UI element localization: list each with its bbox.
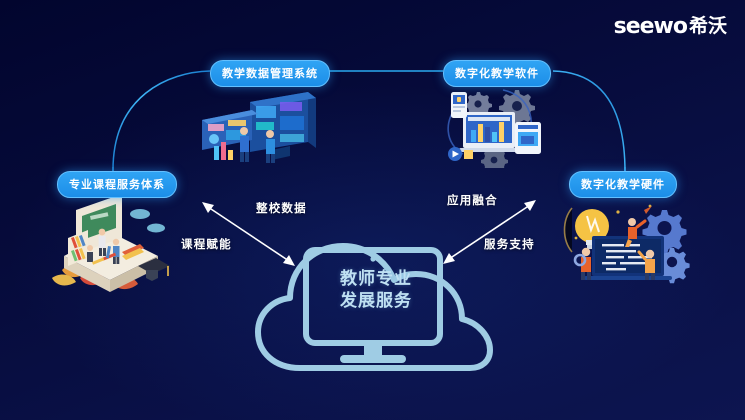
connection-label-whole-school-data: 整校数据 xyxy=(256,200,307,216)
connection-label-service-support: 服务支持 xyxy=(484,236,535,252)
center-title-line1: 教师专业 xyxy=(330,268,422,290)
dashboard-people-illustration xyxy=(190,84,330,166)
laptop-code-bulb-gears-illustration xyxy=(558,196,694,284)
node-label-digital-software[interactable]: 数字化教学软件 xyxy=(443,60,551,87)
classroom-books-illustration xyxy=(46,196,174,294)
laptop-chart-gears-illustration xyxy=(437,84,561,168)
connection-label-app-fusion: 应用融合 xyxy=(447,192,498,208)
node-label-digital-hardware[interactable]: 数字化教学硬件 xyxy=(569,171,677,198)
node-label-data-management[interactable]: 教学数据管理系统 xyxy=(210,60,330,87)
slide-canvas: seewo 希沃 xyxy=(0,0,745,420)
connection-label-course-empower: 课程赋能 xyxy=(181,236,232,252)
node-label-course-service[interactable]: 专业课程服务体系 xyxy=(57,171,177,198)
center-title-line2: 发展服务 xyxy=(330,290,422,312)
arc-software-to-hardware xyxy=(553,71,625,172)
center-title: 教师专业 发展服务 xyxy=(330,268,422,313)
